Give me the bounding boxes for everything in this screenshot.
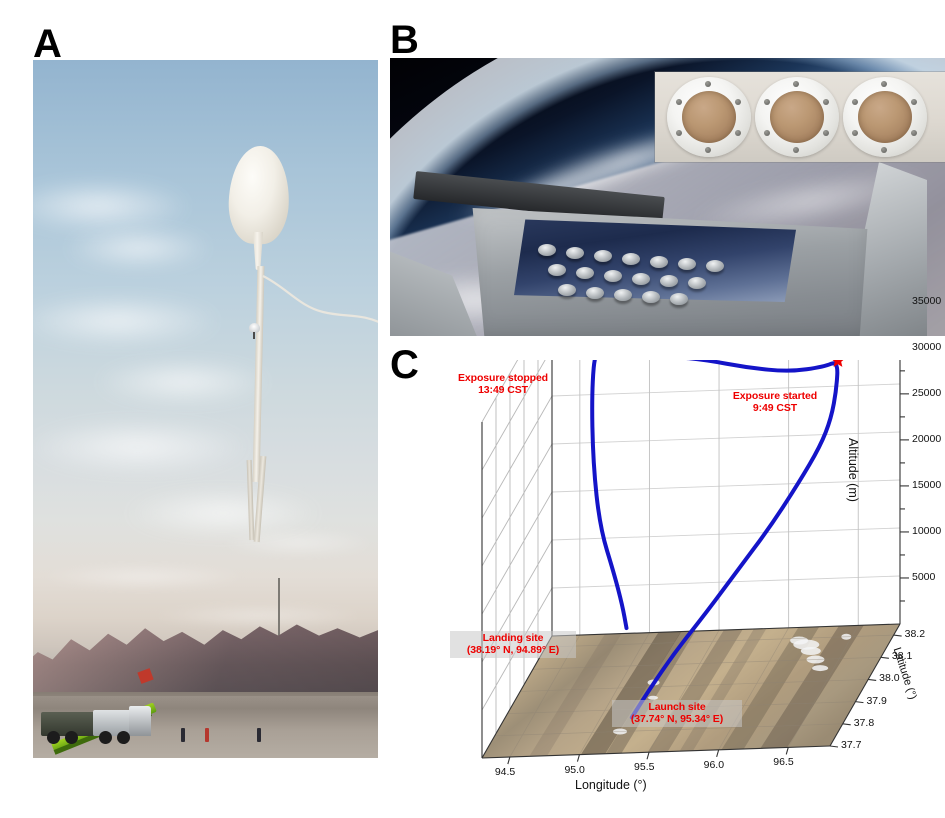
- y-tick-label: 38.2: [905, 628, 925, 640]
- sample-canister: [614, 289, 632, 301]
- panel-letter-a: A: [33, 24, 61, 64]
- soil-sample: [858, 91, 912, 143]
- figure-canvas: A: [0, 0, 945, 818]
- truck-cab: [129, 706, 151, 736]
- exposure-started-label: Exposure started 9:49 CST: [714, 390, 836, 415]
- sample-canister: [706, 260, 724, 272]
- z-axis-title: Altitude (m): [846, 438, 860, 502]
- sample-canister: [604, 270, 622, 282]
- x-tick-label: 96.0: [704, 759, 724, 771]
- z-tick-label: 5000: [912, 571, 935, 583]
- ground-scene: [33, 580, 378, 758]
- screw-icon: [823, 99, 829, 105]
- z-tick-label: 35000: [912, 295, 941, 307]
- sample-canister: [548, 264, 566, 276]
- crew-person: [257, 728, 261, 742]
- z-tick-label: 25000: [912, 387, 941, 399]
- soil-sample: [770, 91, 824, 143]
- screw-icon: [735, 130, 741, 136]
- sample-canister: [650, 256, 668, 268]
- sample-canister: [576, 267, 594, 279]
- screw-icon: [705, 147, 711, 153]
- wheel-icon: [65, 731, 78, 744]
- screw-icon: [735, 99, 741, 105]
- sample-holders-inset: [655, 72, 945, 162]
- crew-person: [181, 728, 185, 742]
- sample-canister: [558, 284, 576, 296]
- z-tick-label: 20000: [912, 433, 941, 445]
- exposure-stopped-label: Exposure stopped 13:49 CST: [443, 372, 563, 397]
- sample-canister: [632, 273, 650, 285]
- x-tick-label: 95.5: [634, 761, 654, 773]
- launch-site-label: Launch site (37.74° N, 95.34° E): [612, 700, 742, 727]
- sample-canister: [642, 291, 660, 303]
- sample-canister: [586, 287, 604, 299]
- panel-a-balloon-launch-photo: [33, 60, 378, 758]
- cloud-shape: [63, 228, 213, 268]
- y-tick-label: 37.9: [866, 695, 886, 707]
- sample-canister: [660, 275, 678, 287]
- cloud-shape: [93, 360, 273, 404]
- x-tick-label: 96.5: [773, 756, 793, 768]
- parachute-line: [253, 332, 255, 339]
- trajectory-3d-axes: [390, 360, 945, 812]
- screw-icon: [852, 99, 858, 105]
- x-tick-label: 95.0: [564, 764, 584, 776]
- screw-icon: [852, 130, 858, 136]
- screw-icon: [705, 81, 711, 87]
- balloon-streamer: [261, 272, 378, 334]
- y-tick-label: 38.0: [879, 672, 899, 684]
- screw-icon: [793, 81, 799, 87]
- wheel-icon: [99, 731, 112, 744]
- landing-site-label: Landing site (38.19° N, 94.89° E): [450, 631, 576, 658]
- y-tick-label: 38.1: [892, 650, 912, 662]
- panel-b-stratosphere-photo: [390, 58, 945, 336]
- screw-icon: [911, 130, 917, 136]
- z-tick-label: 10000: [912, 525, 941, 537]
- cloud-shape: [33, 420, 253, 474]
- screw-icon: [823, 130, 829, 136]
- screw-icon: [793, 147, 799, 153]
- x-axis-title: Longitude (°): [575, 778, 647, 792]
- wheel-icon: [117, 731, 130, 744]
- screw-icon: [764, 130, 770, 136]
- crew-person: [205, 728, 209, 742]
- sample-holder: [755, 77, 839, 157]
- sample-holder: [667, 77, 751, 157]
- soil-sample: [682, 91, 736, 143]
- mountain-shading: [33, 608, 378, 700]
- z-tick-label: 30000: [912, 341, 941, 353]
- sample-canister: [538, 244, 556, 256]
- sample-canister: [566, 247, 584, 259]
- panel-c-trajectory-plot: Exposure stopped 13:49 CST Exposure star…: [390, 360, 945, 812]
- x-tick-label: 94.5: [495, 766, 515, 778]
- sample-canister: [670, 293, 688, 305]
- sample-canister: [688, 277, 706, 289]
- y-tick-label: 37.7: [841, 739, 861, 751]
- cloud-shape: [223, 530, 373, 556]
- wheel-icon: [47, 731, 60, 744]
- screw-icon: [911, 99, 917, 105]
- screw-icon: [881, 81, 887, 87]
- sample-holder: [843, 77, 927, 157]
- screw-icon: [676, 99, 682, 105]
- sample-canister: [678, 258, 696, 270]
- screw-icon: [676, 130, 682, 136]
- sample-canister: [594, 250, 612, 262]
- sample-canister: [622, 253, 640, 265]
- panel-letter-b: B: [390, 20, 418, 60]
- z-tick-label: 15000: [912, 479, 941, 491]
- screw-icon: [881, 147, 887, 153]
- y-tick-label: 37.8: [854, 717, 874, 729]
- screw-icon: [764, 99, 770, 105]
